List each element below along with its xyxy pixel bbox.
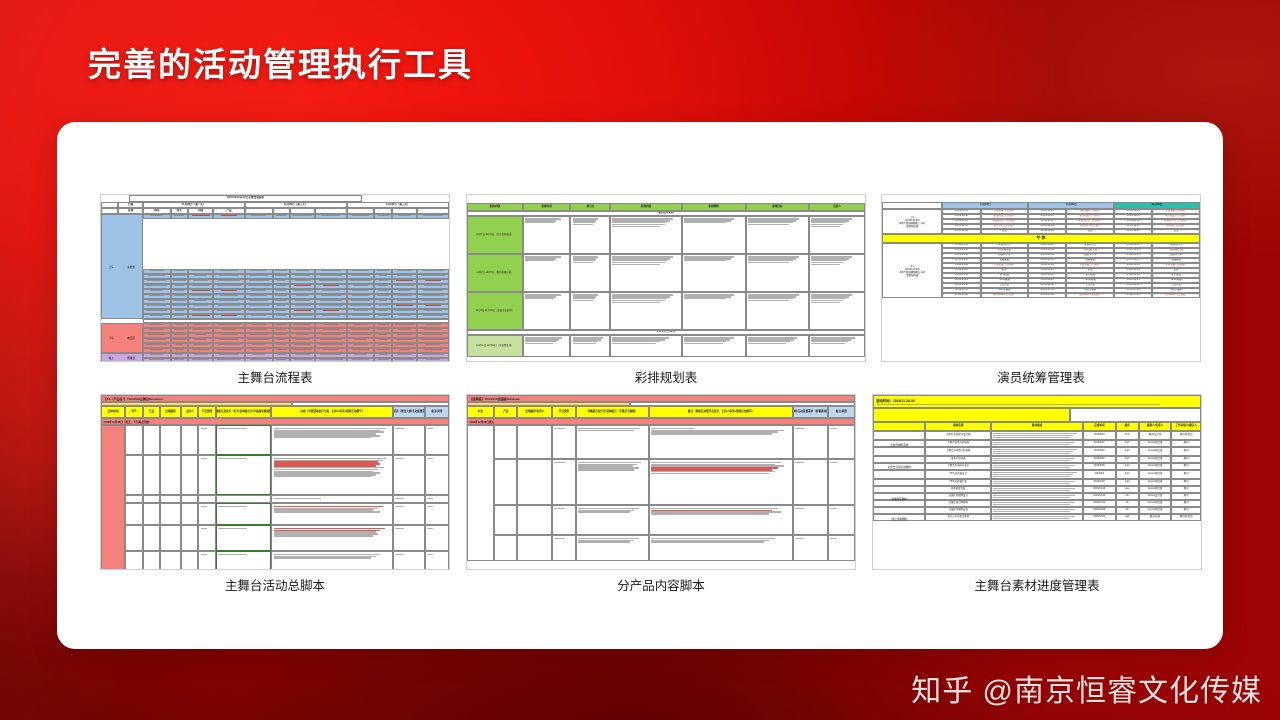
- sheet-cell-text: 王者荣耀（红包雨）: [1165, 264, 1187, 267]
- sheet-cell: [290, 214, 315, 219]
- sheet-cell: [271, 455, 393, 495]
- text-line: [993, 467, 1069, 468]
- sheet-cell: [494, 535, 517, 561]
- text-line: [993, 437, 1069, 438]
- text-line: [149, 359, 165, 360]
- text-line: [377, 270, 389, 271]
- text-line: [578, 508, 639, 509]
- sheet-cell: 10月1日-11月1日（灯光音响调试）: [467, 216, 523, 254]
- text-line: [425, 280, 441, 281]
- material-name: 主舞台互动环节演示: [948, 465, 970, 468]
- text-line: [276, 324, 286, 325]
- sheet-cell-text: ներ主播秀: [999, 289, 1011, 292]
- sheet-cell-text: 天涯明月刀: [1170, 244, 1182, 247]
- text-line: [396, 280, 413, 281]
- sheet-cell: [809, 292, 865, 330]
- sheet-cell: [576, 505, 650, 535]
- text-line: [379, 354, 388, 355]
- text-line: [422, 334, 443, 335]
- section-label-morning: 上午主舞台: [101, 214, 143, 319]
- text-line: [294, 344, 311, 345]
- text-line: [276, 310, 285, 311]
- text-line: [554, 428, 564, 429]
- text-line: [150, 215, 164, 216]
- text-line: [217, 285, 242, 286]
- text-line: [293, 349, 312, 350]
- thumbnail-product-script[interactable]: 【经典版】TGC2019全国版Rundown 时长 产品 出场顺序/负责人 节目…: [466, 394, 856, 594]
- sheet-cell: Group/项目组: [1139, 479, 1172, 486]
- text-line: [193, 280, 208, 281]
- text-line: [321, 295, 341, 296]
- sheet-cell: 11月2日-11月5日（舞美搭建彩排）: [467, 254, 523, 292]
- sheet-cell: 签售: [1152, 229, 1200, 234]
- col-header-5: 备注（现场互动细节及话术、主持人串词+现场互动细节）: [688, 411, 754, 414]
- sheet-cell-text: 14:15-14:35: [1127, 259, 1140, 262]
- sheet-cell: [517, 505, 552, 535]
- text-line: [175, 344, 183, 345]
- sheet-cell-text: 17:20-17:40: [1127, 294, 1140, 297]
- break-row: 午 休: [882, 234, 1200, 243]
- text-line: [554, 538, 564, 539]
- thumbnail-material-progress[interactable]: 活动时间：2016/11.28-30 素材名称 素材描述 完成时间: [872, 394, 1202, 594]
- text-line: [323, 310, 339, 311]
- text-line: [192, 290, 210, 291]
- text-line: [748, 224, 789, 225]
- col-header-3: 节目类型: [559, 411, 569, 414]
- text-line: [147, 305, 166, 306]
- text-line: [578, 462, 642, 463]
- sheet-cell: [392, 214, 417, 219]
- sheet-cell-text: 16:55-17:15: [955, 289, 968, 292]
- sheet-cell: [143, 551, 160, 570]
- doc-title-bar: 活动时间：2016/11.28-30: [873, 395, 1201, 408]
- text-line: [352, 349, 369, 350]
- section-sublabel-text: 主舞台: [127, 265, 135, 269]
- text-line: [612, 343, 656, 344]
- sheet-cell-text: 腾讯: [1184, 458, 1189, 461]
- sheet-cell: [374, 214, 391, 219]
- sheet-cell: [809, 216, 865, 254]
- sheet-cell: [873, 479, 925, 486]
- text-line: [397, 275, 413, 276]
- sheet-cell: [271, 503, 393, 525]
- col-header-1: 素材描述: [1032, 425, 1042, 428]
- sheet-cell-text: 2016/10/21: [1093, 516, 1105, 519]
- sheet-cell-text: 10:00-10:25: [1041, 210, 1054, 213]
- rehearsal-phase-label: 10月1日-11月1日（灯光音响调试）: [476, 234, 513, 237]
- sheet-cell-text: 跑跑卡丁车: [998, 254, 1010, 257]
- sheet-cell-text: QQ飞车（红包雨）: [994, 225, 1014, 228]
- sheet-cell-text: mp4: [1125, 473, 1130, 476]
- thumbnail-actor-schedule[interactable]: 11月28日 11月29日 11月30日 10:00-10:25王者荣耀（红包雨…: [881, 194, 1201, 386]
- sheet-cell-text: 王者荣耀（红包雨）: [1079, 264, 1101, 267]
- text-line: [573, 224, 593, 225]
- text-line: [379, 305, 388, 306]
- day-header-0: 11月28日: [980, 204, 991, 207]
- table-row: [101, 503, 449, 525]
- sheet-cell: [991, 514, 1083, 521]
- sheet-cell-text: 11:15-11:35: [1041, 225, 1053, 228]
- table-row: [101, 525, 449, 551]
- text-line: [379, 334, 387, 335]
- sheet-cell: mp4: [1116, 479, 1139, 486]
- sheet-cell-text: 3mm: [1125, 434, 1130, 437]
- text-line: [319, 305, 343, 306]
- sheet-cell-text: 腾讯/项目组: [1180, 516, 1193, 519]
- text-line: [397, 270, 411, 271]
- text-line: [612, 264, 660, 265]
- sheet-cell: [160, 525, 181, 551]
- text-line: [379, 300, 387, 301]
- caption-rehearsal-plan: 彩排规划表: [466, 367, 866, 386]
- side-header-area: 区域: [128, 210, 133, 213]
- content-card: XXXX年XX月XX日主舞台流程表 日期 11月28日（第一天）: [57, 122, 1223, 649]
- sheet-cell-text: 上古世纪: [1171, 284, 1181, 287]
- break-row-label: 午 休: [1036, 236, 1045, 240]
- sheet-cell: [347, 214, 375, 219]
- text-line: [324, 324, 338, 325]
- sheet-cell: cdr: [1116, 507, 1139, 514]
- text-line: [353, 310, 367, 311]
- sheet-cell: 腾讯: [1171, 463, 1201, 470]
- sheet-cell: [393, 503, 424, 525]
- sheet-cell: [181, 525, 198, 551]
- sheet-cell: [198, 495, 215, 503]
- sheet-cell-text: QQ game（红包雨）: [993, 294, 1015, 297]
- sheet-cell-text: 跑跑卡丁车: [1084, 254, 1096, 257]
- sheet-cell-text: 2016/10/10: [1093, 488, 1105, 491]
- text-line: [993, 451, 1073, 452]
- text-line: [148, 275, 165, 276]
- table-row: H5互动页面开发2016/10/9mp4Group/项目组腾讯: [873, 479, 1201, 486]
- doc-title: 活动时间：2016/11.28-30: [876, 398, 1198, 403]
- group-header-day3: 11月30日（第三天）: [386, 204, 410, 207]
- text-line: [222, 329, 237, 330]
- sheet-cell: H5互动页面开发: [925, 479, 991, 486]
- material-name: 主舞台背景大屏动画: [948, 442, 970, 445]
- sheet-cell-text: NOW直播: [1171, 279, 1182, 282]
- text-line: [220, 334, 237, 335]
- text-line: [427, 458, 433, 459]
- sheet-cell: Group/项目组: [1139, 470, 1172, 479]
- sheet-cell-text: 13:50-14:10: [1041, 254, 1054, 257]
- sheet-cell: [570, 216, 610, 254]
- text-line: [220, 295, 239, 296]
- text-line: [192, 315, 210, 316]
- sheet-cell-text: 15:30-16:00: [1041, 274, 1054, 277]
- text-line: [395, 554, 403, 555]
- material-name: 嘉宾介绍动画: [951, 458, 965, 461]
- sheet-cell: [347, 314, 375, 319]
- text-line: [147, 280, 166, 281]
- sheet-cell-text: Group/项目组: [1148, 458, 1162, 461]
- sheet-cell: [273, 314, 290, 319]
- material-name: 分展区导视牌设计: [949, 495, 968, 498]
- sheet-cell-text: Group/设计组: [1148, 495, 1162, 498]
- text-line: [296, 334, 309, 335]
- sheet-cell: 2016/10/10: [1083, 500, 1116, 507]
- sheet-cell: [216, 425, 272, 455]
- thumbnail-main-stage-script[interactable]: 【XX（产品名）】TGC2018主舞台Rundown 分钟/时间 环节 产品: [100, 394, 450, 594]
- text-line: [321, 270, 341, 271]
- text-line: [398, 329, 410, 330]
- sheet-cell: 2016/9/27: [1083, 440, 1116, 447]
- sheet-cell-text: NOW直播: [1085, 279, 1096, 282]
- text-line: [217, 349, 242, 350]
- text-line: [146, 310, 167, 311]
- text-line: [422, 354, 444, 355]
- text-line: [175, 349, 184, 350]
- sheet-cell-text: Group/项目组: [1148, 450, 1162, 453]
- col-header-4: 彩排物料: [709, 206, 719, 209]
- sheet-cell-text: 腾讯/设计组: [1149, 434, 1162, 437]
- text-line: [395, 528, 403, 529]
- text-line: [322, 290, 340, 291]
- text-line: [319, 344, 343, 345]
- sheet-cell: [245, 214, 273, 219]
- doc-title: XXXX年XX月XX日主舞台流程表: [227, 197, 264, 200]
- text-line: [424, 285, 442, 286]
- col-header-2: 产品: [149, 411, 154, 414]
- material-name: 分展区导视牌安装: [949, 509, 968, 512]
- text-line: [351, 329, 369, 330]
- text-line: [201, 506, 207, 507]
- material-group-label: 主舞台活动氛围物料: [873, 457, 925, 477]
- sheet-cell-text: 16:05-16:25: [955, 279, 968, 282]
- sheet-cell-text: QQ炫舞大赛: [1169, 249, 1182, 252]
- sheet-cell-text: QQ game（红包雨）: [1079, 294, 1101, 297]
- col-header-6: 导播提示及音乐（灯光/音响提示文字/画面切换提醒）: [216, 411, 272, 414]
- sheet-cell: 腾讯: [1171, 493, 1201, 500]
- text-line: [250, 329, 266, 330]
- text-line: [323, 285, 339, 286]
- sheet-cell: [425, 495, 449, 503]
- text-line: [578, 511, 630, 512]
- table-row: [467, 505, 855, 535]
- sheet-cell-text: 10:00-10:25: [955, 210, 968, 213]
- text-line: [351, 300, 371, 301]
- sheet-cell: 11:40-12:00: [1114, 229, 1152, 234]
- text-line: [274, 469, 379, 470]
- group-header-day2: 11月29日（第二天）: [284, 204, 308, 207]
- table-row: [101, 358, 449, 362]
- text-line: [277, 280, 285, 281]
- sheet-cell: [393, 455, 424, 495]
- sheet-cell: [793, 425, 828, 459]
- sheet-cell-text: 2016/9/30: [1094, 458, 1105, 461]
- sheet-cell-text: 16:05-16:25: [1041, 279, 1054, 282]
- caption-product-script: 分产品内容脚本: [466, 575, 856, 594]
- sheet-cell: [425, 455, 449, 495]
- text-line: [295, 280, 311, 281]
- col-header-2: 出场顺序/负责人: [525, 411, 544, 414]
- text-line: [993, 474, 1073, 475]
- sheet-cell: 腾讯: [1171, 440, 1201, 447]
- text-line: [275, 275, 288, 276]
- text-line: [174, 215, 184, 216]
- sheet-cell: [417, 214, 448, 219]
- sheet-cell: Group/设计组: [1139, 493, 1172, 500]
- text-line: [252, 324, 266, 325]
- text-line: [274, 506, 383, 507]
- sheet-cell: [393, 425, 424, 455]
- text-line: [219, 300, 240, 301]
- sheet-cell-text: 10:50-11:10: [955, 220, 968, 223]
- text-line: [379, 275, 387, 276]
- sheet-cell: [425, 525, 449, 551]
- col-header-8: 物料/道具（舞台大屏/互动装置需求）: [393, 411, 424, 414]
- rehearsal-phase-label: 11月2日-11月5日（舞美搭建彩排）: [476, 272, 513, 275]
- sheet-cell: 主舞台背景大屏动画: [925, 440, 991, 447]
- col-header-time: 时间: [154, 210, 159, 213]
- sheet-cell: [523, 292, 571, 330]
- text-line: [293, 315, 312, 316]
- sheet-cell: 2016/10/10: [1083, 493, 1116, 500]
- sheet-cell: [143, 495, 160, 503]
- sheet-cell: [245, 358, 273, 362]
- text-line: [252, 344, 265, 345]
- sheet-cell: [125, 551, 142, 570]
- text-line: [319, 359, 344, 360]
- text-line: [378, 285, 388, 286]
- text-line: [191, 295, 211, 296]
- sheet-cell: mp4: [1116, 447, 1139, 456]
- text-line: [378, 215, 389, 216]
- text-line: [425, 324, 441, 325]
- sheet-cell: [746, 254, 810, 292]
- text-line: [295, 305, 311, 306]
- text-line: [425, 305, 441, 306]
- text-line: [192, 349, 209, 350]
- text-line: [296, 295, 309, 296]
- text-line: [146, 344, 167, 345]
- text-line: [395, 506, 403, 507]
- text-line: [274, 428, 387, 429]
- sheet-cell: 2016/9/30: [1083, 456, 1116, 463]
- material-name: 主舞台主视觉KV设计稿: [946, 434, 971, 437]
- doc-title-bar: 【经典版】TGC2019全国版Rundown: [467, 395, 855, 402]
- text-line: [296, 270, 309, 271]
- sheet-cell: [682, 292, 746, 330]
- text-line: [525, 298, 554, 299]
- sheet-cell: 嘉宾介绍动画: [925, 456, 991, 463]
- text-line: [194, 300, 207, 301]
- text-line: [377, 295, 389, 296]
- sheet-cell: mp4: [1116, 470, 1139, 479]
- text-line: [830, 538, 837, 539]
- sheet-cell-text: 13:00-13:20: [955, 244, 968, 247]
- sheet-cell-text: Group/项目组: [1148, 481, 1162, 484]
- sheet-cell-text: 13:25-13:45: [1127, 249, 1140, 252]
- sheet-cell: 签售: [1066, 229, 1114, 234]
- sheet-cell: 腾讯: [1171, 500, 1201, 507]
- sheet-cell: 17:20-17:40: [1114, 293, 1152, 298]
- text-line: [811, 343, 845, 344]
- material-name: 主舞台开场倒计时视频: [946, 450, 970, 453]
- text-line: [397, 295, 411, 296]
- sheet-cell-text: 跑跑卡丁车: [1170, 254, 1182, 257]
- text-line: [379, 280, 388, 281]
- text-line: [251, 315, 266, 316]
- sheet-cell: [809, 335, 865, 357]
- sheet-cell: psd: [1116, 514, 1139, 521]
- sheet-cell: [271, 551, 393, 570]
- text-line: [684, 222, 726, 223]
- thumbnail-rehearsal-plan[interactable]: 彩排内容 彩排时间 参与方 彩排内容 彩排物料 彩排目标 负责人 硬件技术彩排: [466, 194, 866, 386]
- text-line: [193, 305, 208, 306]
- actor-afternoon-block: 下午(13:00-17:40)A场个签排期预留五小时 需提前协调: [882, 243, 942, 298]
- sheet-cell-text: QQ飞车（红包雨）: [1166, 225, 1186, 228]
- sheet-cell-text: 天涯明月刀（红包雨）: [992, 220, 1016, 223]
- sheet-cell-text: 11:40-12:00: [1127, 230, 1140, 233]
- text-line: [251, 349, 266, 350]
- section-label-text: 下午: [109, 336, 114, 340]
- sheet-cell-text: Group/项目组: [1148, 509, 1162, 512]
- text-line: [218, 305, 241, 306]
- text-line: [173, 280, 186, 281]
- sheet-cell-text: 2016/9/3: [1095, 473, 1104, 476]
- col-header-content: 内容: [198, 210, 203, 213]
- text-line: [378, 359, 389, 360]
- sheet-cell: QQ game（红包雨）: [1152, 293, 1200, 298]
- text-line: [352, 290, 368, 291]
- text-line: [578, 428, 640, 429]
- sheet-cell: [171, 314, 188, 319]
- text-line: [250, 359, 266, 360]
- sheet-cell: [125, 503, 142, 525]
- sheet-cell: [793, 535, 828, 561]
- sheet-cell: 11:40-12:00: [942, 229, 980, 234]
- text-line: [421, 300, 444, 301]
- sheet-cell-text: 王者荣耀（红包雨）: [1165, 210, 1187, 213]
- text-line: [192, 310, 209, 311]
- table-row: [101, 314, 449, 319]
- text-line: [651, 513, 769, 514]
- text-line: [354, 339, 367, 340]
- sheet-cell-text: Group/项目组: [1148, 465, 1162, 468]
- thumb-image-main-stage-flow: XXXX年XX月XX日主舞台流程表 日期 11月28日（第一天）: [100, 194, 450, 362]
- text-line: [146, 285, 167, 286]
- sheet-cell-text: 15:05-15:25: [1041, 269, 1054, 272]
- text-line: [174, 290, 184, 291]
- sheet-cell: [425, 425, 449, 455]
- text-line: [425, 344, 440, 345]
- sheet-cell-text: 王者荣耀（红包雨）: [1079, 210, 1101, 213]
- sheet-cell-text: 签售: [1002, 230, 1007, 233]
- text-line: [422, 295, 444, 296]
- thumbnail-main-stage-flow[interactable]: XXXX年XX月XX日主舞台流程表 日期 11月28日（第一天）: [100, 194, 450, 386]
- sheet-cell: 腾讯: [1171, 486, 1201, 493]
- day-header-1: 11月29日: [1066, 204, 1077, 207]
- text-line: [150, 349, 164, 350]
- thumbnail-grid: XXXX年XX月XX日主舞台流程表 日期 11月28日（第一天）: [57, 122, 1223, 649]
- text-line: [351, 275, 371, 276]
- text-line: [294, 324, 312, 325]
- sheet-cell: 2016/9/3: [1083, 470, 1116, 479]
- sheet-cell: 主舞台主视觉KV设计稿: [925, 431, 991, 440]
- sheet-cell: [273, 214, 290, 219]
- sheet-cell: [523, 335, 571, 357]
- sheet-cell: [216, 551, 272, 570]
- sheet-cell-text: 腾讯: [1184, 473, 1189, 476]
- table-row: [467, 535, 855, 561]
- sheet-cell: [991, 470, 1083, 479]
- material-header-row: 素材名称 素材描述 完成时间 格式 提案人/负责人 工作对接人/确认人: [873, 422, 1201, 431]
- page-title: 完善的活动管理执行工具: [88, 38, 473, 86]
- text-line: [427, 428, 433, 429]
- actor-block-line: A场个签排期预留五小时 需提前协调: [899, 271, 925, 277]
- text-line: [811, 302, 840, 303]
